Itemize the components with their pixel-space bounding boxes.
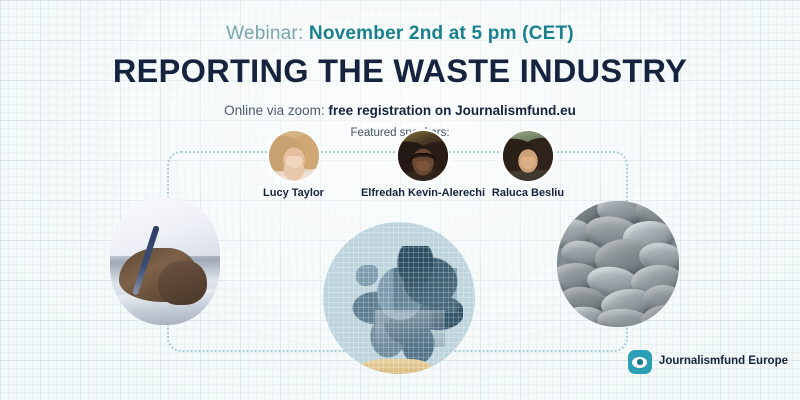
avatar-portrait-icon <box>269 131 319 181</box>
photo-hand-writing <box>110 197 220 325</box>
speaker-card: Lucy Taylor <box>244 131 344 199</box>
registration-link-text[interactable]: free registration on Journalismfund.eu <box>328 103 576 118</box>
speaker-name: Lucy Taylor <box>243 188 344 199</box>
photo-europe-map <box>323 222 475 374</box>
avatar-portrait-icon <box>398 131 448 181</box>
speaker-name: Elfredah Kevin-Alerechi <box>348 188 498 199</box>
speaker-card: Elfredah Kevin-Alerechi <box>348 131 498 199</box>
brand-name: Journalismfund Europe <box>659 356 788 368</box>
webinar-label: Webinar: <box>226 23 303 44</box>
platform-label: Online via zoom: <box>224 103 325 118</box>
webinar-date-line: Webinar: November 2nd at 5 pm (CET) <box>0 24 800 43</box>
eye-icon <box>628 350 652 374</box>
header-block: Webinar: November 2nd at 5 pm (CET) REPO… <box>0 0 800 140</box>
registration-line: Online via zoom: free registration on Jo… <box>0 104 800 118</box>
webinar-datetime: November 2nd at 5 pm (CET) <box>309 23 574 44</box>
speaker-name: Raluca Besliu <box>478 188 578 199</box>
avatar-portrait-icon <box>503 131 553 181</box>
speakers-row: Lucy Taylor Elfredah Kevin-Alerechi Ralu… <box>0 131 800 201</box>
speaker-card: Raluca Besliu <box>478 131 578 199</box>
page-title: REPORTING THE WASTE INDUSTRY <box>0 55 800 88</box>
photo-stones <box>557 201 679 327</box>
brand-logo[interactable]: Journalismfund Europe <box>628 350 788 374</box>
